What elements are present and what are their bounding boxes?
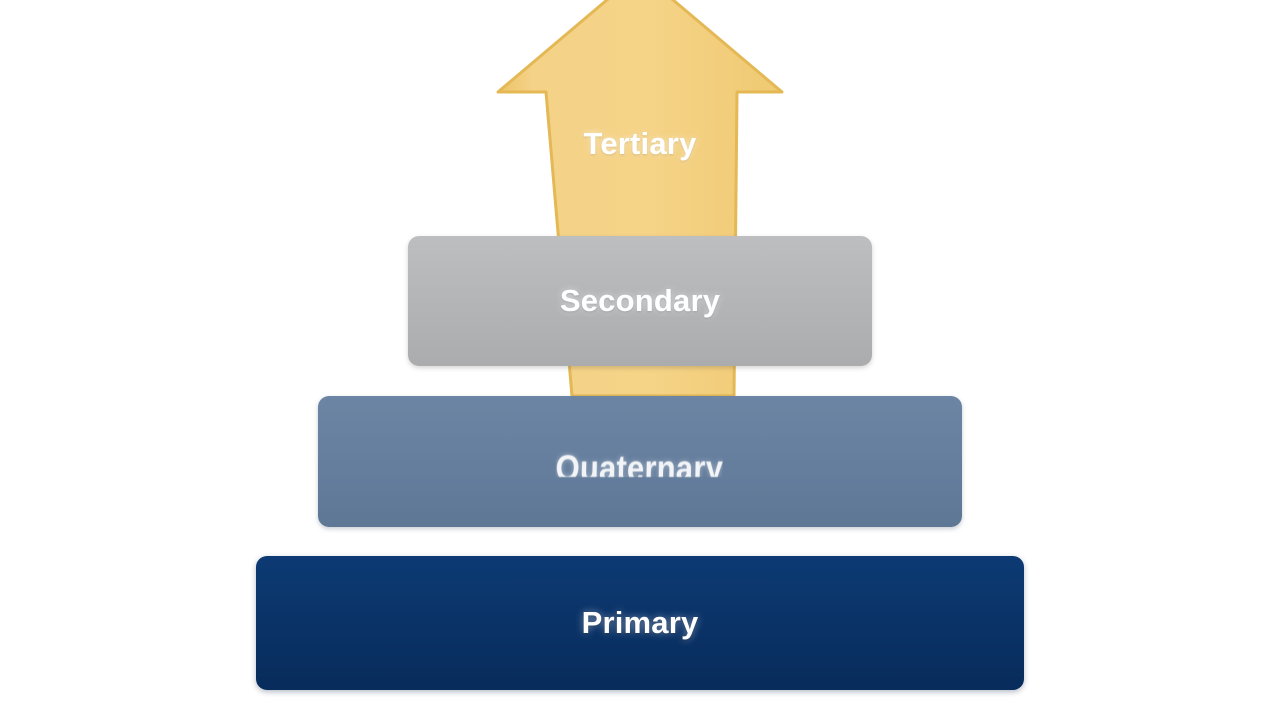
level-label-quaternary-corrupted: Quaternary <box>556 451 724 477</box>
level-bar-primary[interactable]: Primary <box>256 556 1024 690</box>
level-bar-quaternary[interactable]: Quaternary <box>318 396 962 527</box>
level-label-primary: Primary <box>582 605 699 641</box>
level-label-secondary: Secondary <box>560 283 720 319</box>
arrow-label-tertiary: Tertiary <box>0 126 1280 162</box>
diagram-canvas: Tertiary Secondary Quaternary Primary <box>0 0 1280 720</box>
level-bar-secondary[interactable]: Secondary <box>408 236 872 366</box>
